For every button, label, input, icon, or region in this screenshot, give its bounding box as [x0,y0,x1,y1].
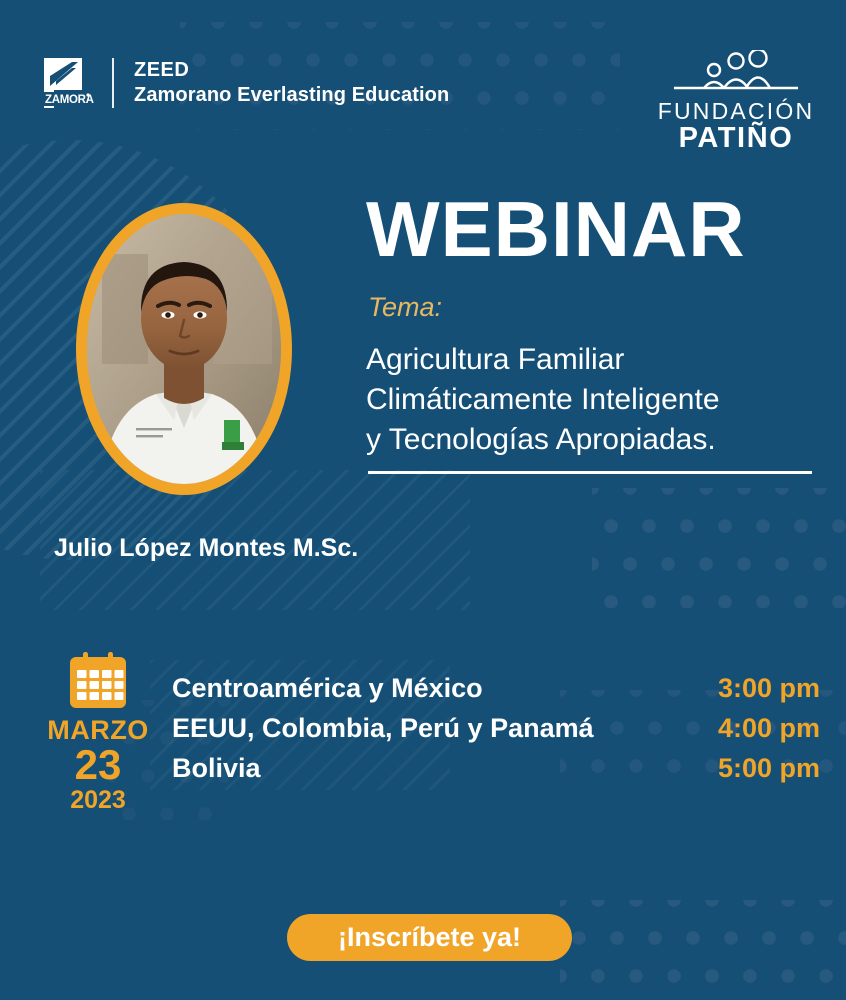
dot-pattern-bottom [560,900,846,1000]
speaker-portrait-image [87,214,281,484]
schedule-time: 5:00 pm [702,753,820,784]
schedule-row: Centroamérica y México 3:00 pm [172,673,820,704]
topic-line-3: y Tecnologías Apropiadas. [366,420,826,460]
page-title: WEBINAR [366,190,746,268]
patino-fundacion-text: FUNDACIÓN [652,99,820,123]
zeed-text-block: ZEED Zamorano Everlasting Education [134,58,449,108]
schedule-time: 3:00 pm [702,673,820,704]
topic-line-1: Agricultura Familiar [366,340,826,380]
three-people-figures-icon [670,50,802,96]
webinar-poster: ZAMORANO ZEED Zamorano Everlasting Educa… [0,0,846,1000]
event-month: MARZO [28,716,168,744]
schedule-list: Centroamérica y México 3:00 pm EEUU, Col… [172,673,820,793]
schedule-row: Bolivia 5:00 pm [172,753,820,784]
patino-name-text: PATIÑO [652,123,820,154]
schedule-time: 4:00 pm [702,713,820,744]
topic-divider-rule [368,471,812,474]
event-date-block: MARZO 23 2023 [28,652,168,815]
schedule-row: EEUU, Colombia, Perú y Panamá 4:00 pm [172,713,820,744]
speaker-name: Julio López Montes M.Sc. [54,534,358,563]
schedule-region: Bolivia [172,753,261,784]
portrait-orange-ring [76,203,292,495]
speaker-portrait-container [76,203,292,495]
tema-label: Tema: [368,292,442,323]
fundacion-patino-logo: FUNDACIÓN PATIÑO [652,50,820,154]
dot-pattern-mid-right [592,488,846,608]
zamorano-leaf-logo-icon: ZAMORANO [32,52,94,114]
topic-line-2: Climáticamente Inteligente [366,380,826,420]
zamorano-brand-block: ZAMORANO ZEED Zamorano Everlasting Educa… [32,52,449,114]
webinar-topic: Agricultura Familiar Climáticamente Inte… [366,340,826,460]
poster-header: ZAMORANO ZEED Zamorano Everlasting Educa… [0,0,846,150]
calendar-icon [67,652,129,710]
event-day: 23 [28,744,168,787]
schedule-region: Centroamérica y México [172,673,483,704]
register-cta-button[interactable]: ¡Inscríbete ya! [287,914,572,961]
header-divider [112,58,114,108]
schedule-region: EEUU, Colombia, Perú y Panamá [172,713,594,744]
event-year: 2023 [28,787,168,815]
zeed-abbreviation: ZEED [134,58,449,83]
zeed-full-name: Zamorano Everlasting Education [134,83,449,108]
